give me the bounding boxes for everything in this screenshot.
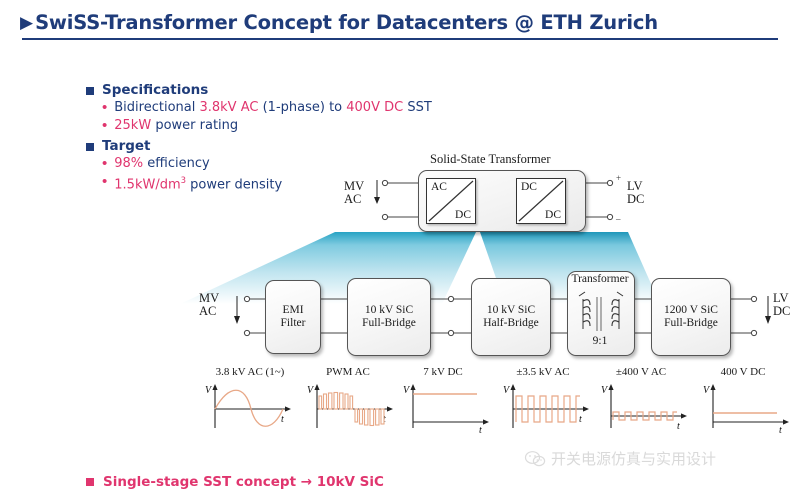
square-bullet-icon <box>86 143 94 151</box>
sst-stage1-bottom-label: DC <box>455 209 471 221</box>
list-item-label: Bidirectional 3.8kV AC (1-phase) to 400V… <box>114 99 432 116</box>
chain-input-label-line1: MV <box>199 291 219 305</box>
svg-text:t: t <box>281 414 284 425</box>
bottom-statement-text: Single-stage SST concept → 10kV SiC <box>103 474 384 490</box>
svg-text:t: t <box>677 421 680 432</box>
title-divider <box>22 38 778 40</box>
dot-bullet-icon: • <box>102 117 107 134</box>
block-label: EMIFilter <box>281 304 306 331</box>
svg-text:V: V <box>601 385 609 396</box>
square-bullet-icon <box>86 87 94 95</box>
power-stage-block-diagram: MV AC LV DC EMIFilter 10 kV SiCFull-Brid… <box>195 283 795 363</box>
waveform-plot-dc-high: V t <box>399 382 495 434</box>
list-item: • 25kW power rating <box>102 117 506 134</box>
sst-stage2-bottom-label: DC <box>545 209 561 221</box>
watermark-text: 开关电源仿真与实用设计 <box>551 448 716 469</box>
waveform-label: ±3.5 kV AC <box>495 366 591 378</box>
transformer-coil-icon <box>575 291 627 335</box>
sst-stage-dcdc: DC DC <box>516 178 566 224</box>
block-10kv-sic-full-bridge: 10 kV SiCFull-Bridge <box>347 278 431 356</box>
chain-output-label: LV DC <box>773 292 790 318</box>
sst-output-label-line2: DC <box>627 192 644 206</box>
chain-input-label-line2: AC <box>199 304 216 318</box>
waveform-label: PWM AC <box>300 366 396 378</box>
dot-bullet-icon: • <box>102 155 107 172</box>
waveform-plot-square-bipolar: V t <box>499 382 595 434</box>
wechat-icon <box>524 450 546 468</box>
svg-text:t: t <box>779 425 782 434</box>
sst-output-label: LV DC <box>627 180 644 206</box>
block-label: 10 kV SiCFull-Bridge <box>362 304 416 331</box>
sst-output-label-line1: LV <box>627 179 643 193</box>
bullet-heading: Specifications <box>102 82 208 98</box>
watermark: 开关电源仿真与实用设计 <box>524 448 716 469</box>
chain-output-label-line1: LV <box>773 291 789 305</box>
svg-text:V: V <box>503 385 511 396</box>
waveform-label: 7 kV DC <box>395 366 491 378</box>
dot-bullet-icon: • <box>102 173 107 190</box>
list-item-label: 25kW power rating <box>114 117 238 134</box>
sst-output-minus-sign: – <box>616 214 621 224</box>
transformer-ratio: 9:1 <box>567 335 633 347</box>
title-text: SwiSS-Transformer Concept for Datacenter… <box>35 11 658 34</box>
chain-input-label: MV AC <box>199 292 219 318</box>
waveform-label: ±400 V AC <box>593 366 689 378</box>
bottom-statement: Single-stage SST concept → 10kV SiC <box>86 474 384 490</box>
waveform-row: 3.8 kV AC (1~) PWM AC 7 kV DC ±3.5 kV AC… <box>195 366 795 441</box>
solid-state-transformer-diagram: Solid-State Transformer MV AC <box>330 152 660 247</box>
sst-stage-acdc: AC DC <box>426 178 476 224</box>
block-label: 1200 V SiCFull-Bridge <box>664 304 718 331</box>
list-item-label: 1.5kW/dm3 power density <box>114 173 282 193</box>
chain-output-label-line2: DC <box>773 304 790 318</box>
bullet-heading: Target <box>102 138 151 154</box>
svg-text:V: V <box>205 385 213 396</box>
page-title: ▶ SwiSS-Transformer Concept for Datacent… <box>20 6 780 38</box>
sst-stage1-top-label: AC <box>431 181 447 193</box>
sst-output-plus-sign: + <box>616 173 621 183</box>
waveform-plot-square-small: V t <box>597 382 693 434</box>
waveform-plot-dc-low: V t <box>699 382 795 434</box>
dot-bullet-icon: • <box>102 99 107 116</box>
svg-text:V: V <box>403 385 411 396</box>
transformer-caption: Transformer <box>567 273 633 285</box>
slide-canvas: ▶ SwiSS-Transformer Concept for Datacent… <box>0 0 800 502</box>
block-emi-filter: EMIFilter <box>265 280 321 354</box>
waveform-plot-pwm-ac: V t <box>303 382 399 434</box>
svg-text:t: t <box>479 425 482 434</box>
waveform-plot-sine: V t <box>201 382 297 434</box>
title-arrow-icon: ▶ <box>20 14 33 31</box>
waveform-label: 3.8 kV AC (1~) <box>195 366 305 378</box>
block-1200v-sic-full-bridge: 1200 V SiCFull-Bridge <box>651 278 731 356</box>
bullet-group-specifications: Specifications <box>86 82 506 98</box>
waveform-label: 400 V DC <box>695 366 791 378</box>
square-bullet-icon <box>86 478 94 486</box>
svg-text:V: V <box>307 385 315 396</box>
block-10kv-sic-half-bridge: 10 kV SiCHalf-Bridge <box>471 278 551 356</box>
svg-text:V: V <box>703 385 711 396</box>
list-item: • Bidirectional 3.8kV AC (1-phase) to 40… <box>102 99 506 116</box>
list-item-label: 98% efficiency <box>114 155 209 172</box>
sst-caption: Solid-State Transformer <box>430 152 550 167</box>
svg-text:t: t <box>579 414 582 425</box>
sst-stage2-top-label: DC <box>521 181 537 193</box>
block-label: 10 kV SiCHalf-Bridge <box>483 304 539 331</box>
